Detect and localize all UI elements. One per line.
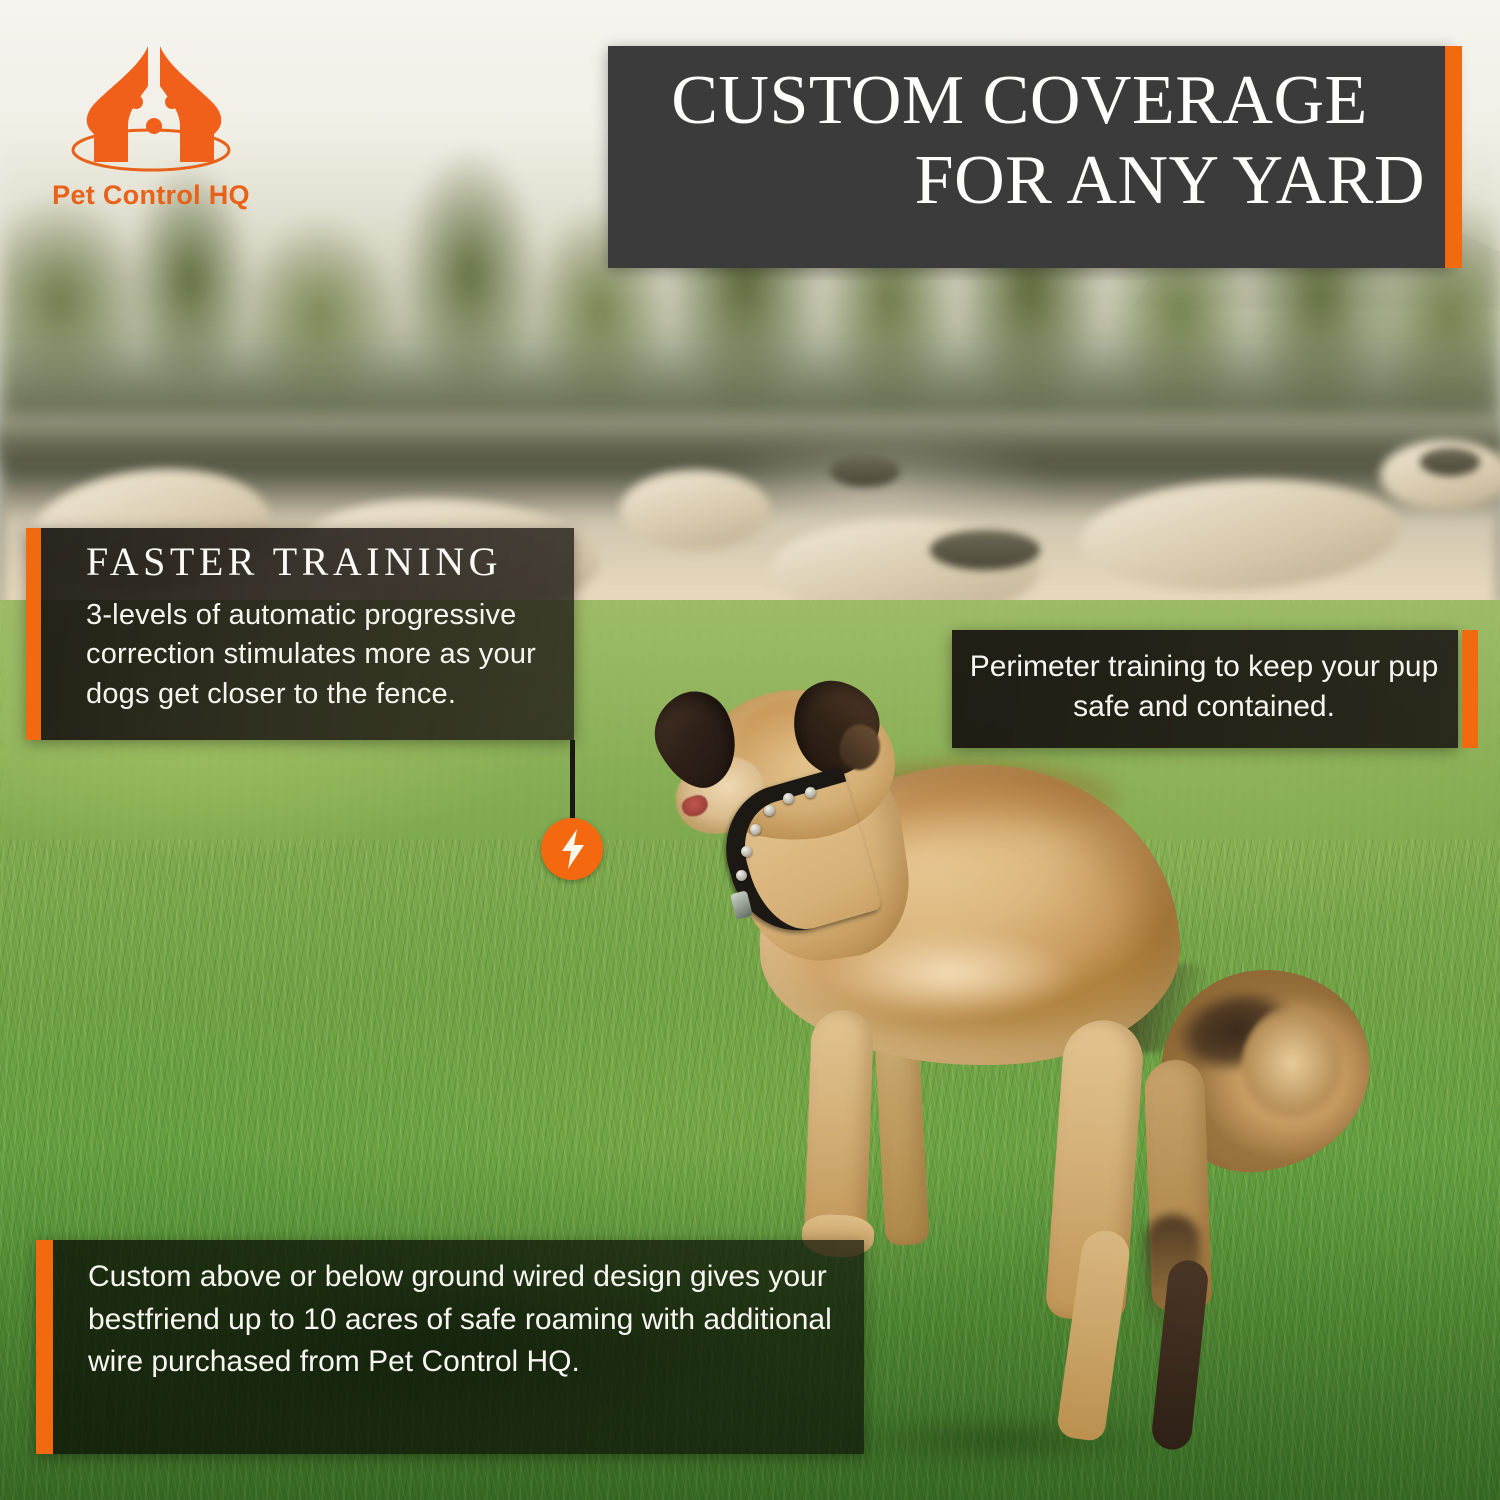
perimeter-training-body: Perimeter training to keep your pup safe… <box>966 647 1442 726</box>
dog-tail-fluff <box>1240 1000 1370 1140</box>
collar-stud <box>750 824 761 835</box>
faster-training-accent-bar <box>26 528 41 740</box>
collar-stud <box>764 805 775 816</box>
faster-training-title: FASTER TRAINING <box>86 538 562 585</box>
dark-rock <box>1420 448 1480 476</box>
wired-design-body: Custom above or below ground wired desig… <box>88 1256 846 1384</box>
perimeter-training-accent-bar <box>1462 630 1478 748</box>
lake-edge <box>0 415 1500 445</box>
brand-name: Pet Control HQ <box>36 180 266 211</box>
brand-logo: Pet Control HQ <box>36 40 266 190</box>
header-banner: CUSTOM COVERAGE FOR ANY YARD <box>608 46 1453 268</box>
header-accent-bar <box>1445 46 1462 268</box>
shore-rock <box>620 470 770 550</box>
header-line-2: FOR ANY YARD <box>608 142 1431 220</box>
collar-stud <box>805 787 816 798</box>
pet-control-hq-logo-icon <box>36 40 266 175</box>
collar-stud <box>741 846 752 857</box>
badge-connector-line <box>570 740 575 826</box>
wired-design-panel: Custom above or below ground wired desig… <box>36 1240 864 1454</box>
wired-design-accent-bar <box>36 1240 53 1454</box>
marketing-banner: Pet Control HQ CUSTOM COVERAGE FOR ANY Y… <box>0 0 1500 1500</box>
collar-stud <box>783 793 794 804</box>
faster-training-body: 3-levels of automatic progressive correc… <box>86 596 560 714</box>
dark-rock <box>930 530 1040 570</box>
perimeter-training-panel: Perimeter training to keep your pup safe… <box>952 630 1458 748</box>
dog-front-right-leg <box>874 1029 929 1246</box>
lightning-badge <box>541 818 603 880</box>
lightning-bolt-icon <box>558 829 588 869</box>
dark-rock <box>830 455 900 487</box>
collar-stud <box>736 870 747 881</box>
faster-training-panel: FASTER TRAINING 3-levels of automatic pr… <box>26 528 574 740</box>
header-line-1: CUSTOM COVERAGE <box>608 62 1431 140</box>
